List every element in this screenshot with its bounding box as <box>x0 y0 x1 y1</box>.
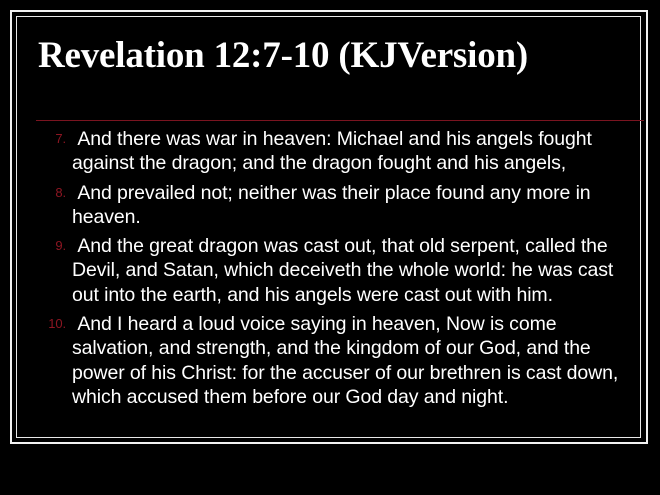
verse-number: 8. <box>36 184 66 202</box>
verse-item: 10. And I heard a loud voice saying in h… <box>34 312 634 409</box>
verse-text: And I heard a loud voice saying in heave… <box>72 312 634 409</box>
slide-title: Revelation 12:7-10 (KJVersion) <box>38 33 618 79</box>
verse-item: 7. And there was war in heaven: Michael … <box>34 127 634 176</box>
verse-text: And the great dragon was cast out, that … <box>72 234 634 307</box>
verse-number: 10. <box>36 315 66 333</box>
verse-list: 7. And there was war in heaven: Michael … <box>34 127 634 414</box>
verse-item: 8. And prevailed not; neither was their … <box>34 181 634 230</box>
verse-number: 9. <box>36 237 66 255</box>
verse-item: 9. And the great dragon was cast out, th… <box>34 234 634 307</box>
presentation-slide: Revelation 12:7-10 (KJVersion) 7. And th… <box>0 0 660 495</box>
title-divider-rule <box>36 120 644 121</box>
verse-text: And there was war in heaven: Michael and… <box>72 127 634 176</box>
verse-text: And prevailed not; neither was their pla… <box>72 181 634 230</box>
verse-number: 7. <box>36 130 66 148</box>
